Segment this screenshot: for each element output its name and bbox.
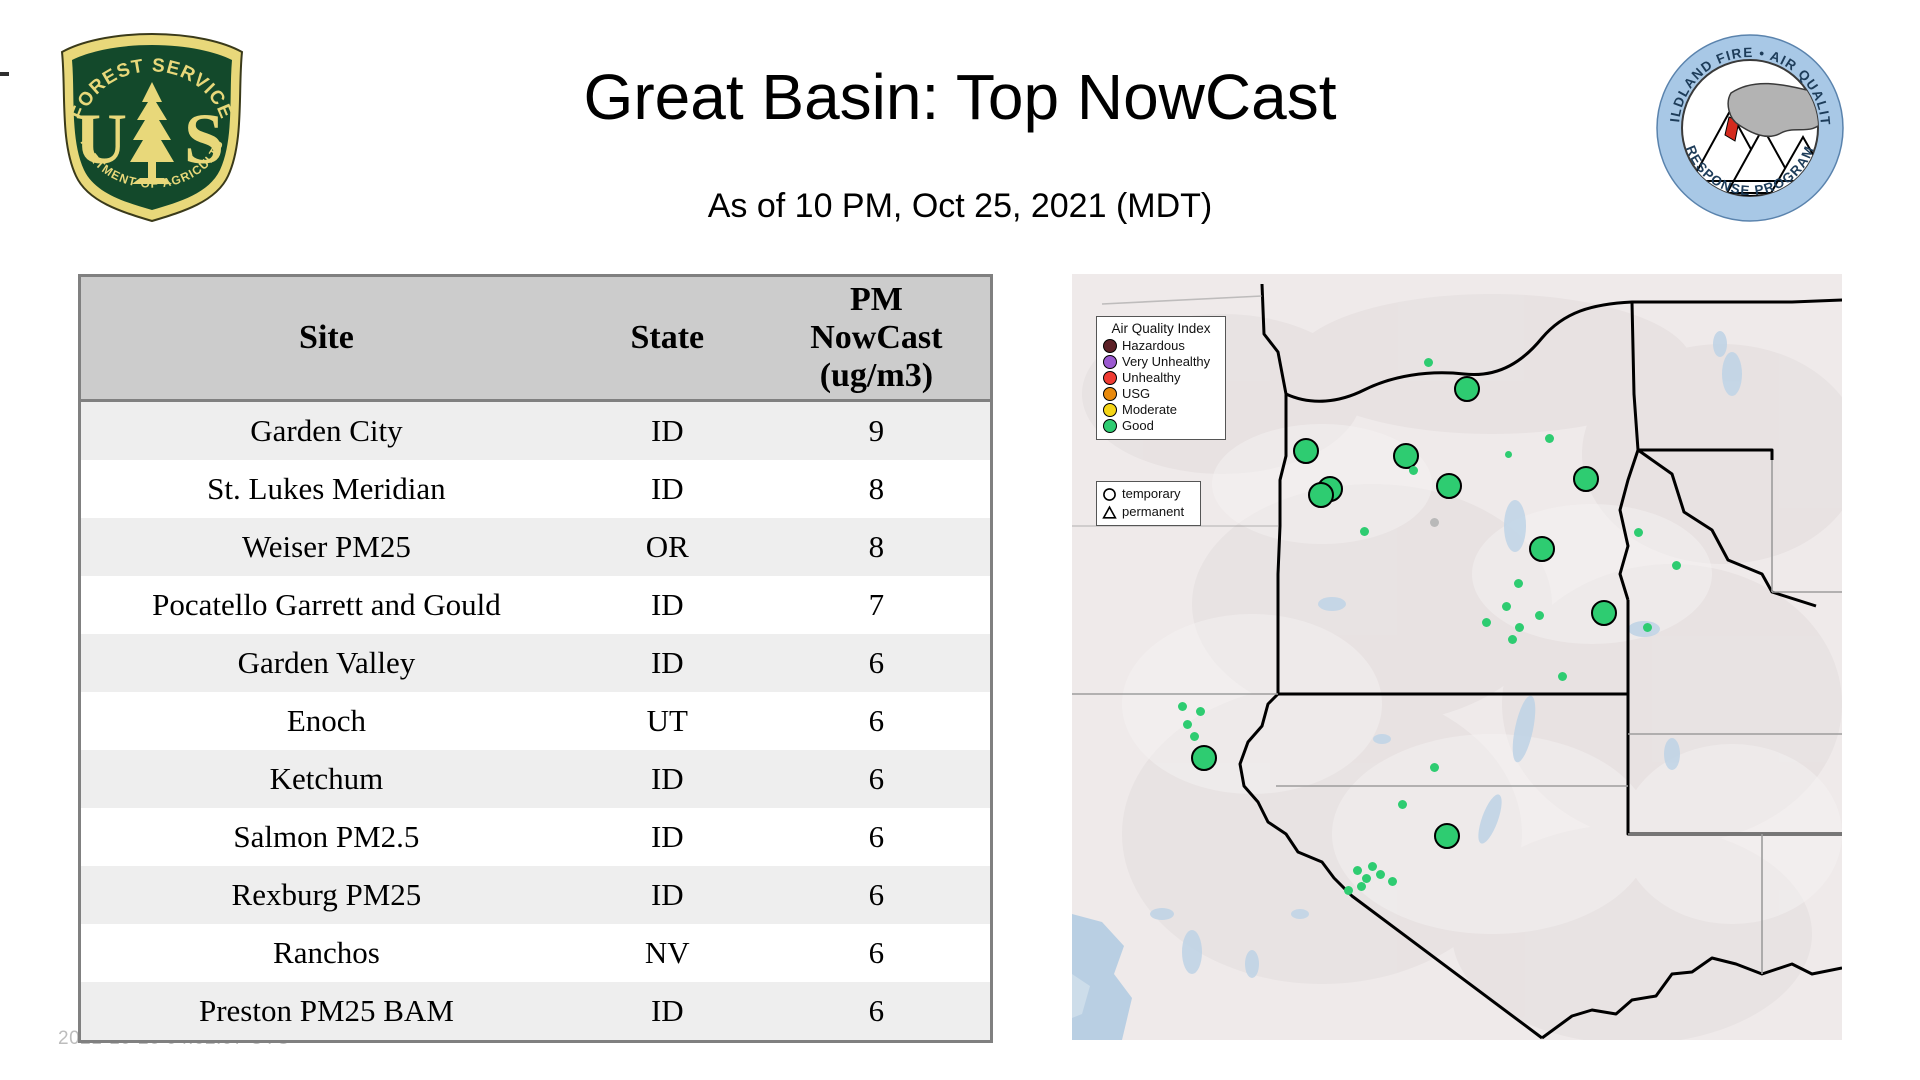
- monitor-marker[interactable]: [1393, 443, 1419, 469]
- aqi-legend-item: Moderate: [1103, 402, 1219, 418]
- aqi-legend-label: Unhealthy: [1122, 371, 1181, 385]
- svg-text:S: S: [184, 99, 224, 179]
- aqi-color-swatch-icon: [1103, 387, 1117, 401]
- state-cell: ID: [572, 750, 763, 808]
- aqi-color-swatch-icon: [1103, 355, 1117, 369]
- aqi-legend: Air Quality Index HazardousVery Unhealth…: [1096, 316, 1226, 440]
- monitor-type-legend: temporary permanent: [1096, 481, 1201, 526]
- column-header-pm-nowcast: PM NowCast (ug/m3): [763, 277, 990, 401]
- monitor-marker[interactable]: [1357, 882, 1366, 891]
- site-cell: Preston PM25 BAM: [81, 982, 572, 1040]
- table-row: St. Lukes MeridianID8: [81, 460, 990, 518]
- monitor-marker[interactable]: [1672, 561, 1681, 570]
- monitor-marker[interactable]: [1368, 862, 1377, 871]
- table-row: EnochUT6: [81, 692, 990, 750]
- column-header-site: Site: [81, 277, 572, 401]
- pm-value-cell: 6: [763, 982, 990, 1040]
- monitor-marker[interactable]: [1178, 702, 1187, 711]
- state-cell: UT: [572, 692, 763, 750]
- site-cell: Garden City: [81, 401, 572, 461]
- monitor-marker[interactable]: [1436, 473, 1462, 499]
- aqi-legend-label: Very Unhealthy: [1122, 355, 1210, 369]
- table-row: Rexburg PM25ID6: [81, 866, 990, 924]
- monitor-marker[interactable]: [1376, 870, 1385, 879]
- monitor-marker[interactable]: [1409, 466, 1418, 475]
- page-title: Great Basin: Top NowCast: [330, 60, 1590, 134]
- legend-item-temporary: temporary: [1102, 485, 1195, 503]
- monitor-marker[interactable]: [1634, 528, 1643, 537]
- aqi-legend-item: Good: [1103, 418, 1219, 434]
- monitor-marker[interactable]: [1535, 611, 1544, 620]
- state-cell: NV: [572, 924, 763, 982]
- aqi-legend-item: USG: [1103, 386, 1219, 402]
- pm-header-line-2: NowCast: [763, 319, 990, 357]
- legend-item-permanent: permanent: [1102, 503, 1195, 521]
- state-cell: OR: [572, 518, 763, 576]
- site-cell: St. Lukes Meridian: [81, 460, 572, 518]
- site-cell: Enoch: [81, 692, 572, 750]
- circle-icon: [1102, 487, 1117, 502]
- state-cell: ID: [572, 401, 763, 461]
- monitor-marker[interactable]: [1430, 518, 1439, 527]
- pm-value-cell: 6: [763, 808, 990, 866]
- aqi-legend-item: Very Unhealthy: [1103, 354, 1219, 370]
- monitor-marker[interactable]: [1362, 874, 1371, 883]
- aqi-color-swatch-icon: [1103, 371, 1117, 385]
- pm-value-cell: 6: [763, 924, 990, 982]
- pm-value-cell: 6: [763, 634, 990, 692]
- monitor-marker[interactable]: [1293, 438, 1319, 464]
- site-cell: Rexburg PM25: [81, 866, 572, 924]
- aqi-legend-label: Good: [1122, 419, 1154, 433]
- monitor-marker[interactable]: [1183, 720, 1192, 729]
- site-cell: Weiser PM25: [81, 518, 572, 576]
- monitor-marker[interactable]: [1545, 434, 1554, 443]
- monitor-marker[interactable]: [1502, 602, 1511, 611]
- usda-forest-service-logo: FOREST SERVICE DEPARTMENT OF AGRICULTURE…: [52, 30, 252, 225]
- site-cell: Ketchum: [81, 750, 572, 808]
- monitor-marker[interactable]: [1424, 358, 1433, 367]
- pm-value-cell: 9: [763, 401, 990, 461]
- site-cell: Garden Valley: [81, 634, 572, 692]
- pm-value-cell: 6: [763, 866, 990, 924]
- triangle-icon: [1102, 505, 1117, 520]
- slide-edge-marker: [0, 72, 9, 76]
- site-cell: Ranchos: [81, 924, 572, 982]
- table-row: Pocatello Garrett and GouldID7: [81, 576, 990, 634]
- table-row: Preston PM25 BAMID6: [81, 982, 990, 1040]
- table-row: Garden CityID9: [81, 401, 990, 461]
- aqi-color-swatch-icon: [1103, 419, 1117, 433]
- monitor-marker[interactable]: [1505, 451, 1512, 458]
- monitor-marker[interactable]: [1591, 600, 1617, 626]
- page-subtitle: As of 10 PM, Oct 25, 2021 (MDT): [330, 185, 1590, 227]
- monitor-marker[interactable]: [1353, 866, 1362, 875]
- monitor-marker[interactable]: [1515, 623, 1524, 632]
- monitor-marker[interactable]: [1191, 745, 1217, 771]
- aqi-color-swatch-icon: [1103, 403, 1117, 417]
- legend-label-temporary: temporary: [1122, 487, 1181, 501]
- pm-value-cell: 7: [763, 576, 990, 634]
- pm-header-line-3: (ug/m3): [763, 357, 990, 395]
- wildland-fire-air-quality-logo: WILDLAND FIRE • AIR QUALITY RESPONSE PRO…: [1655, 33, 1845, 223]
- table-row: Weiser PM25OR8: [81, 518, 990, 576]
- monitor-marker[interactable]: [1196, 707, 1205, 716]
- monitor-marker[interactable]: [1643, 623, 1652, 632]
- state-cell: ID: [572, 460, 763, 518]
- monitor-marker[interactable]: [1308, 482, 1334, 508]
- monitor-marker[interactable]: [1360, 527, 1369, 536]
- aqi-legend-label: Moderate: [1122, 403, 1177, 417]
- state-cell: ID: [572, 576, 763, 634]
- monitor-marker[interactable]: [1573, 466, 1599, 492]
- monitor-marker[interactable]: [1434, 823, 1460, 849]
- pm-value-cell: 6: [763, 750, 990, 808]
- monitor-marker[interactable]: [1558, 672, 1567, 681]
- svg-text:U: U: [75, 99, 127, 179]
- column-header-state: State: [572, 277, 763, 401]
- monitor-marker[interactable]: [1514, 579, 1523, 588]
- monitor-marker[interactable]: [1529, 536, 1555, 562]
- monitor-marker[interactable]: [1482, 618, 1491, 627]
- top-nowcast-table: Site State PM NowCast (ug/m3) Garden Cit…: [78, 274, 993, 1043]
- pm-value-cell: 8: [763, 460, 990, 518]
- monitor-marker[interactable]: [1508, 635, 1517, 644]
- pm-header-line-1: PM: [763, 281, 990, 319]
- table-row: KetchumID6: [81, 750, 990, 808]
- site-cell: Salmon PM2.5: [81, 808, 572, 866]
- aqi-legend-label: Hazardous: [1122, 339, 1185, 353]
- monitor-marker[interactable]: [1344, 886, 1353, 895]
- great-basin-monitor-map[interactable]: Air Quality Index HazardousVery Unhealth…: [1072, 274, 1842, 1040]
- monitor-marker[interactable]: [1454, 376, 1480, 402]
- monitor-marker[interactable]: [1190, 732, 1199, 741]
- aqi-legend-item: Unhealthy: [1103, 370, 1219, 386]
- aqi-legend-label: USG: [1122, 387, 1150, 401]
- table-row: RanchosNV6: [81, 924, 990, 982]
- state-cell: ID: [572, 982, 763, 1040]
- aqi-legend-title: Air Quality Index: [1103, 321, 1219, 336]
- table-row: Salmon PM2.5ID6: [81, 808, 990, 866]
- table-header-row: Site State PM NowCast (ug/m3): [81, 277, 990, 401]
- legend-label-permanent: permanent: [1122, 505, 1184, 519]
- state-cell: ID: [572, 634, 763, 692]
- aqi-color-swatch-icon: [1103, 339, 1117, 353]
- monitor-marker[interactable]: [1388, 877, 1397, 886]
- monitor-marker[interactable]: [1398, 800, 1407, 809]
- state-cell: ID: [572, 866, 763, 924]
- pm-value-cell: 6: [763, 692, 990, 750]
- aqi-legend-item: Hazardous: [1103, 338, 1219, 354]
- state-cell: ID: [572, 808, 763, 866]
- table-row: Garden ValleyID6: [81, 634, 990, 692]
- site-cell: Pocatello Garrett and Gould: [81, 576, 572, 634]
- pm-value-cell: 8: [763, 518, 990, 576]
- monitor-marker[interactable]: [1430, 763, 1439, 772]
